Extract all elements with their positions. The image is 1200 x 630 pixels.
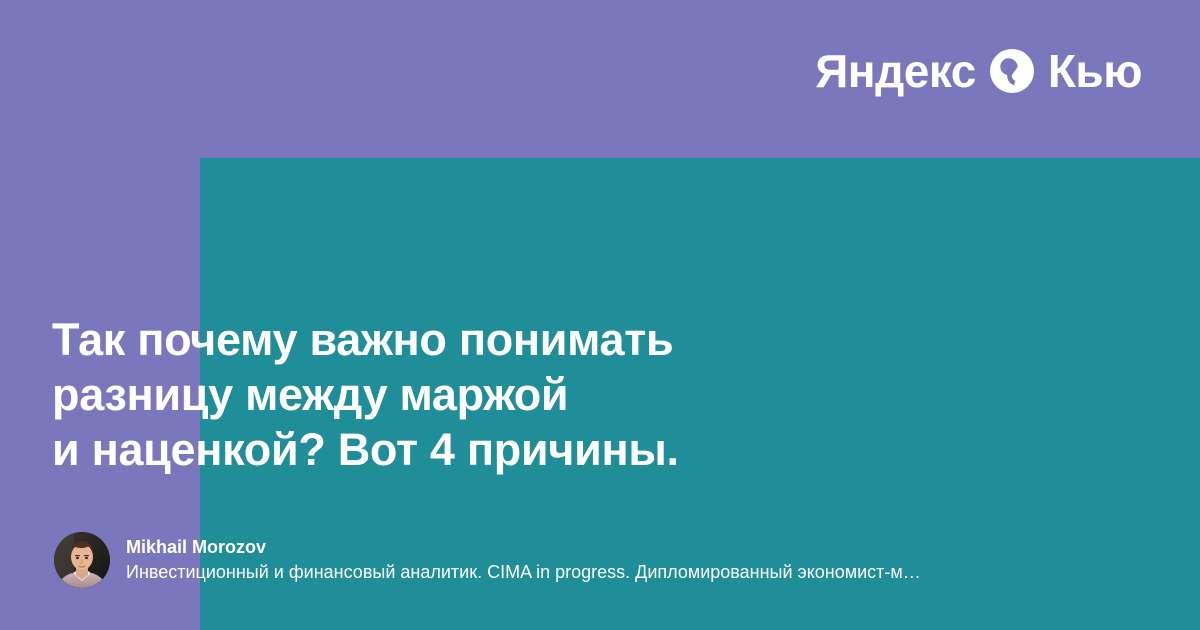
author-block[interactable]: Mikhail Morozov Инвестиционный и финансо… bbox=[54, 532, 1164, 588]
yandex-q-logo[interactable]: Яндекс Кью bbox=[815, 48, 1142, 94]
share-card: Яндекс Кью Так почему важно понимать раз… bbox=[0, 0, 1200, 630]
avatar[interactable] bbox=[54, 532, 110, 588]
author-text: Mikhail Morozov Инвестиционный и финансо… bbox=[126, 536, 1164, 584]
brand-name-yandex: Яндекс bbox=[815, 48, 976, 94]
author-bio: Инвестиционный и финансовый аналитик. CI… bbox=[126, 560, 1126, 584]
q-circle-icon bbox=[990, 49, 1034, 93]
author-name: Mikhail Morozov bbox=[126, 536, 1164, 558]
brand-name-q: Кью bbox=[1048, 48, 1142, 94]
page-title: Так почему важно понимать разницу между … bbox=[52, 312, 832, 477]
